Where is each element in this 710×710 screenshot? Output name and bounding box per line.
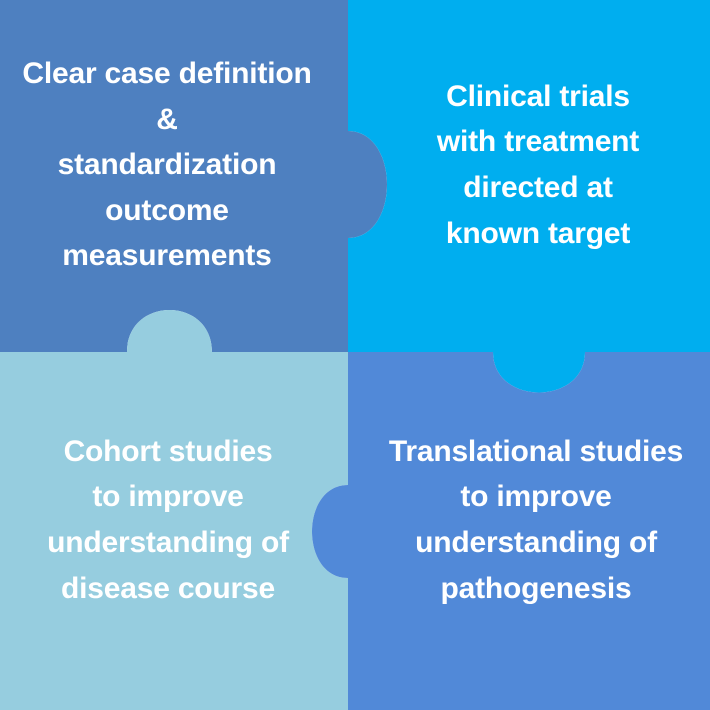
puzzle-piece-bottom-left[interactable]	[0, 310, 348, 710]
puzzle-shapes	[0, 0, 710, 710]
puzzle-diagram: Clear case definition & standardization …	[0, 0, 710, 710]
puzzle-piece-top-left[interactable]	[0, 0, 387, 352]
puzzle-piece-top-right[interactable]	[348, 0, 710, 393]
puzzle-piece-bottom-right[interactable]	[312, 352, 710, 710]
